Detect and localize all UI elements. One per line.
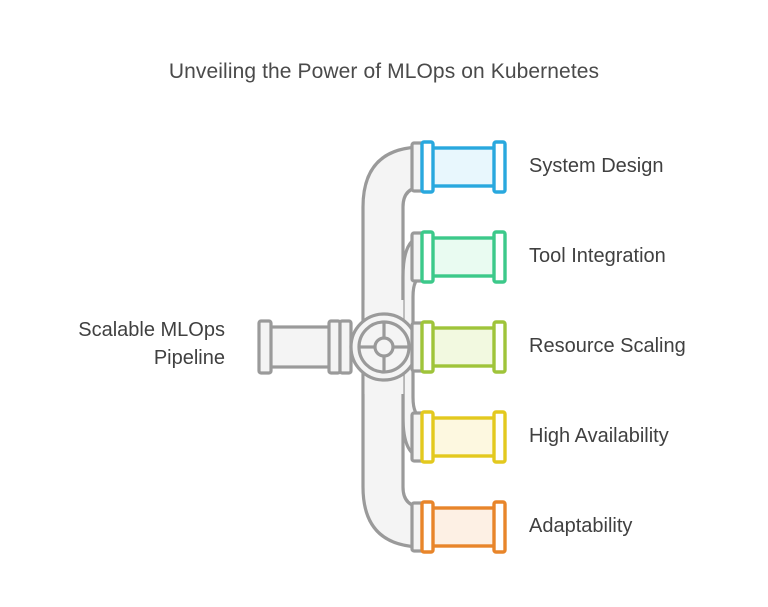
outlet-pipe-high-availability[interactable]	[412, 412, 505, 462]
outlet-pipe-tool-integration[interactable]	[412, 232, 505, 282]
outlet-flange-near-2	[422, 232, 433, 282]
outlet-barrel-2	[428, 238, 500, 276]
outlet-barrel-4	[428, 418, 500, 456]
inlet-pipe-collar-outer	[329, 321, 340, 373]
pipe-manifold-graphic	[0, 0, 768, 607]
outlet-flange-near-1	[422, 142, 433, 192]
outlet-flange-near-5	[422, 502, 433, 552]
outlet-pipes-group	[412, 142, 505, 552]
outlet-flange-far-3	[494, 322, 505, 372]
valve-center-hub	[375, 338, 393, 356]
outlet-barrel-5	[428, 508, 500, 546]
inlet-pipe-collar-inner	[340, 321, 351, 373]
inlet-pipe-end-flange	[259, 321, 271, 373]
outlet-pipe-resource-scaling[interactable]	[412, 322, 505, 372]
outlet-pipe-adaptability[interactable]	[412, 502, 505, 552]
outlet-flange-near-3	[422, 322, 433, 372]
outlet-barrel-3	[428, 328, 500, 366]
outlet-flange-far-1	[494, 142, 505, 192]
outlet-pipe-system-design[interactable]	[412, 142, 505, 192]
outlet-flange-far-4	[494, 412, 505, 462]
outlet-flange-far-5	[494, 502, 505, 552]
outlet-flange-far-2	[494, 232, 505, 282]
outlet-flange-near-4	[422, 412, 433, 462]
manifold-group	[259, 147, 426, 547]
diagram-canvas: Unveiling the Power of MLOps on Kubernet…	[0, 0, 768, 607]
outlet-barrel-1	[428, 148, 500, 186]
